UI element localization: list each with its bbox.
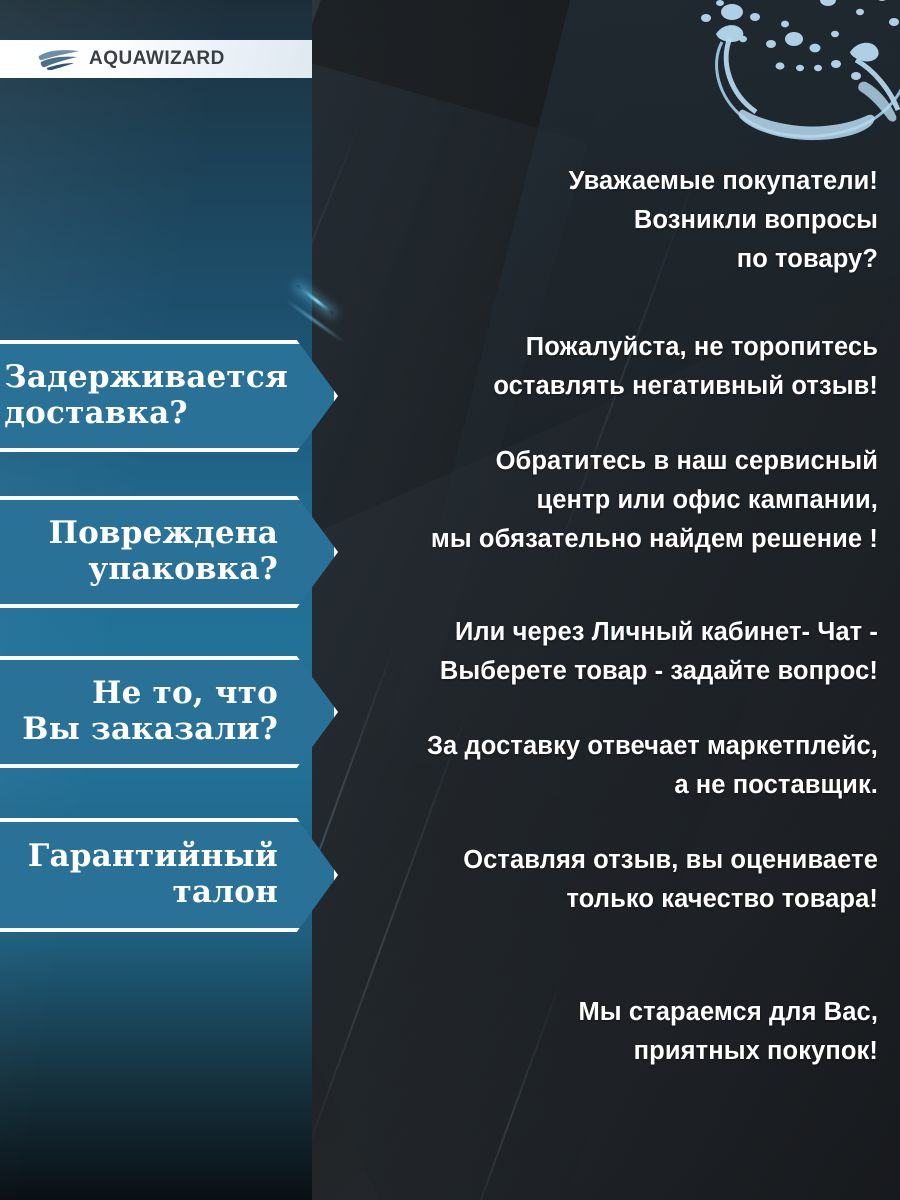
logo-bar: AQUAWIZARD [0,40,312,78]
banner-delivery-delayed[interactable]: Задерживается доставка? [0,340,338,452]
banner-label: Повреждена упаковка? [39,516,334,588]
paragraph-closing: Мы стараемся для Вас, приятных покупок! [333,993,878,1071]
message-column: Уважаемые покупатели! Возникли вопросы п… [330,0,900,1200]
paragraph-contact: Обратитесь в наш сервисный центр или офи… [333,442,878,558]
logo-text: AQUAWIZARD [89,48,225,70]
banner-damaged-packaging[interactable]: Повреждена упаковка? [0,496,338,608]
paragraph-no-rush: Пожалуйста, не торопитесь оставлять нега… [333,328,878,406]
paragraph-delivery: За доставку отвечает маркетплейс, а не п… [333,727,878,805]
paragraph-chat: Или через Личный кабинет- Чат - Выберете… [333,613,878,691]
banner-warranty-card[interactable]: Гарантийный талон [0,818,338,932]
paragraph-review: Оставляя отзыв, вы оцениваете только кач… [333,841,878,919]
banner-label: Задерживается доставка? [0,360,334,432]
paragraph-greeting: Уважаемые покупатели! Возникли вопросы п… [333,162,878,278]
banner-label: Не то, что Вы заказали? [12,676,334,748]
promo-card: AQUAWIZARD Задерживается доставка? Повре… [0,0,900,1200]
banner-wrong-item[interactable]: Не то, что Вы заказали? [0,656,338,768]
wave-icon [38,48,80,70]
banner-label: Гарантийный талон [18,839,334,911]
